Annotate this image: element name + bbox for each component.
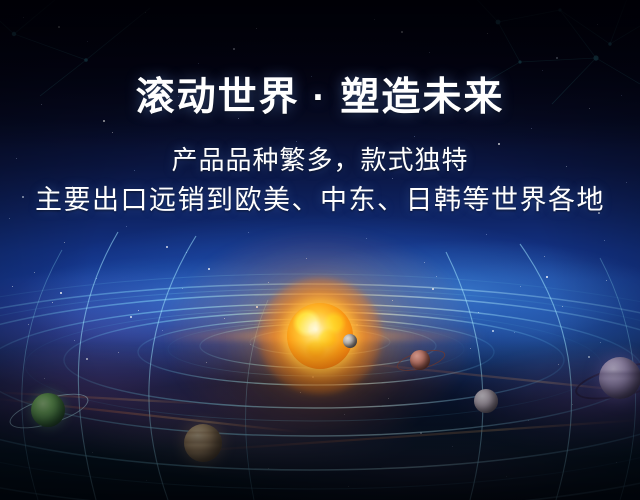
banner-subtitle-line-2: 主要出口远销到欧美、中东、日韩等世界各地 bbox=[0, 180, 640, 222]
purple-planet-body bbox=[599, 357, 640, 399]
tan-planet-body bbox=[184, 424, 222, 462]
banner-subtitle-group: 产品品种繁多，款式独特 主要出口远销到欧美、中东、日韩等世界各地 bbox=[0, 120, 640, 222]
space-promo-banner: 滚动世界 · 塑造未来 产品品种繁多，款式独特 主要出口远销到欧美、中东、日韩等… bbox=[0, 0, 640, 500]
banner-text-block: 滚动世界 · 塑造未来 产品品种繁多，款式独特 主要出口远销到欧美、中东、日韩等… bbox=[0, 0, 640, 222]
sun-surface-texture bbox=[287, 303, 353, 369]
grey-moon bbox=[343, 334, 357, 348]
banner-headline: 滚动世界 · 塑造未来 bbox=[0, 0, 640, 120]
pale-small-planet bbox=[474, 389, 498, 413]
banner-subtitle-line-1: 产品品种繁多，款式独特 bbox=[0, 140, 640, 180]
green-planet-body bbox=[31, 393, 65, 427]
red-planet-body bbox=[410, 350, 430, 370]
